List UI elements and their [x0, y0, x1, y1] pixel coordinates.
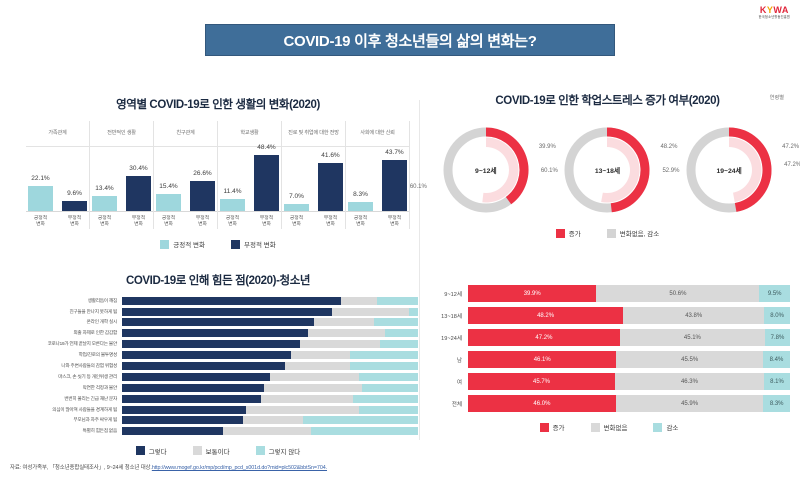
- hbar-track: [122, 362, 418, 370]
- hbar-segment: [362, 384, 418, 392]
- stacked-segment: 46.0%: [468, 395, 616, 412]
- hbar-row-label: 코로나19가 언제 끝날지 모른다는 불안: [18, 341, 122, 347]
- column-bar-label: 긍정적변화: [98, 216, 111, 228]
- legend-swatch: [653, 423, 662, 432]
- legend-label: 보통이다: [206, 446, 230, 456]
- donut-label-left: 60.1%: [410, 184, 427, 190]
- column-bar-wrapper: 26.6%부정적변화: [190, 147, 215, 212]
- hbar-track: [122, 406, 418, 414]
- hbar-segment: [223, 427, 312, 435]
- column-bar: 9.6%부정적변화: [62, 201, 87, 212]
- hbar-segment: [377, 297, 418, 305]
- column-bar-value: 9.6%: [67, 190, 82, 197]
- hbar-segment: [314, 318, 373, 326]
- donut-label-increase: 48.2%: [660, 144, 677, 150]
- legend-swatch: [556, 229, 565, 238]
- legend-item: 감소: [653, 422, 678, 432]
- hbar-row: 특별히 힘든점 없음: [18, 427, 418, 436]
- legend-swatch: [540, 423, 549, 432]
- donut-chart-panel: COVID-19로 인한 학업스트레스 증가 여부(2020) 연령별 9~12…: [425, 92, 790, 257]
- column-bar-wrapper: 41.6%부정적변화: [318, 147, 343, 212]
- donut-center-label: 9~12세: [475, 165, 497, 175]
- legend-item: 증가: [556, 228, 581, 238]
- hbar-row-label: 나와 주변사람들의 감염 위험성: [18, 363, 122, 369]
- stacked-row: 전체46.0%45.9%8.3%: [428, 395, 790, 412]
- stacked-segment: 46.3%: [615, 373, 764, 390]
- hbar-segment: [122, 373, 270, 381]
- hbar-segment: [359, 373, 418, 381]
- hbar-segment: [122, 340, 300, 348]
- column-bar-label: 긍정적변화: [354, 216, 367, 228]
- hbar-segment: [122, 427, 223, 435]
- hbar-segment: [122, 318, 314, 326]
- legend-item: 변화없음: [591, 422, 628, 432]
- column-chart-title: 영역별 COVID-19로 인한 생활의 변화(2020): [18, 96, 418, 112]
- column-bar: 7.0%긍정적변화: [284, 204, 309, 212]
- footnote-link[interactable]: http://www.mogef.go.kr/mp/pcd/mp_pcd_s00…: [152, 465, 327, 471]
- column-bar-value: 22.1%: [31, 175, 49, 182]
- column-bar: 11.4%긍정적변화: [220, 199, 245, 212]
- legend-item: 그렇지 않다: [256, 446, 301, 456]
- column-bar-value: 13.4%: [95, 185, 113, 192]
- legend-item: 변화없음, 감소: [607, 228, 660, 238]
- column-bar: 22.1%긍정적변화: [28, 186, 53, 212]
- hbar-track: [122, 308, 418, 316]
- donut-chart: 9~12세39.9%60.1%60.1%: [438, 122, 534, 218]
- donut-chart-subtitle: 연령별: [770, 94, 784, 101]
- stacked-track: 47.2%45.1%7.8%: [468, 329, 790, 346]
- hbar-segment: [122, 384, 264, 392]
- legend-label: 그렇다: [149, 446, 167, 456]
- column-bar-wrapper: 9.6%부정적변화: [62, 147, 87, 212]
- column-bar-value: 7.0%: [289, 193, 304, 200]
- column-chart: 가족관계22.1%긍정적변화9.6%부정적변화전반적인 생활13.4%긍정적변화…: [26, 121, 410, 229]
- logo-wordmark: KYWA: [759, 6, 790, 15]
- hbar-segment: [300, 340, 380, 348]
- hbar-segment: [350, 351, 418, 359]
- hbar-segment: [291, 351, 350, 359]
- hbar-row-label: 마스크, 손 씻기 등 개인위생 관리: [18, 374, 122, 380]
- hbar-chart-panel: COVID-19로 인해 힘든 점(2020)-청소년 생활리듬이 깨짐친구들을…: [18, 272, 418, 442]
- stacked-segment: 39.9%: [468, 285, 596, 302]
- hbar-row: 막연한 걱정과 불안: [18, 383, 418, 392]
- legend-swatch: [607, 229, 616, 238]
- legend-item: 부정적 변화: [231, 239, 276, 249]
- column-bar: 43.7%부정적변화: [382, 160, 407, 212]
- hbar-row: 친구들을 만나지 못하게 됨: [18, 307, 418, 316]
- legend-label: 그렇지 않다: [269, 446, 301, 456]
- hbar-row-label: 의심이 많아져 사람들을 경계하게 됨: [18, 407, 122, 413]
- footnote: 자료: 여성가족부, 「청소년종합실태조사」, 9~24세 청소년 대상.htt…: [10, 463, 327, 471]
- stacked-track: 48.2%43.8%8.0%: [468, 307, 790, 324]
- stacked-row-label: 전체: [428, 400, 468, 408]
- stacked-segment: 45.5%: [616, 351, 763, 368]
- donut-label-increase: 47.2%: [782, 144, 799, 150]
- stacked-row-label: 9~12세: [428, 290, 468, 298]
- donut-center-label: 13~18세: [595, 165, 620, 175]
- stacked-row: 19~24세47.2%45.1%7.8%: [428, 329, 790, 346]
- hbar-track: [122, 373, 418, 381]
- legend-item: 보통이다: [193, 446, 230, 456]
- column-bar-wrapper: 13.4%긍정적변화: [92, 147, 117, 212]
- legend-swatch: [193, 446, 202, 455]
- donut-label-other: 60.1%: [541, 168, 558, 174]
- column-group-label: 전반적인 생활: [90, 121, 153, 147]
- legend-swatch: [256, 446, 265, 455]
- hbar-track: [122, 427, 418, 435]
- hbar-track: [122, 384, 418, 392]
- column-group-label: 진로 및 취업에 대한 전망: [282, 121, 345, 147]
- donut-chart: 19~24세47.2%47.2%: [681, 122, 777, 218]
- column-bar-label: 부정적변화: [388, 216, 401, 228]
- stacked-segment: 8.3%: [763, 395, 790, 412]
- legend-swatch: [160, 240, 169, 249]
- hbar-segment: [341, 297, 377, 305]
- stacked-segment: 43.8%: [623, 307, 764, 324]
- hbar-segment: [285, 362, 350, 370]
- column-bar-wrapper: 30.4%부정적변화: [126, 147, 151, 212]
- hbar-chart: 생활리듬이 깨짐친구들을 만나지 못하게 됨온라인 개학 실시외출 자제로 인한…: [18, 296, 418, 436]
- hbar-track: [122, 297, 418, 305]
- stacked-track: 46.0%45.9%8.3%: [468, 395, 790, 412]
- column-bar-label: 긍정적변화: [290, 216, 303, 228]
- column-group-label: 사회에 대한 신뢰: [346, 121, 409, 147]
- column-bar: 48.4%부정적변화: [254, 155, 279, 212]
- hbar-segment: [122, 297, 341, 305]
- hbar-row-label: 외출 자제로 인한 갑갑함: [18, 330, 122, 336]
- column-group-body: 15.4%긍정적변화26.6%부정적변화: [154, 147, 217, 229]
- stacked-chart-panel: 9~12세39.9%50.6%9.5%13~18세48.2%43.8%8.0%1…: [428, 285, 790, 445]
- hbar-segment: [122, 416, 243, 424]
- column-group: 친구관계15.4%긍정적변화26.6%부정적변화: [154, 121, 218, 229]
- column-group: 가족관계22.1%긍정적변화9.6%부정적변화: [26, 121, 90, 229]
- stacked-segment: 45.9%: [616, 395, 764, 412]
- column-group: 사회에 대한 신뢰8.3%긍정적변화43.7%부정적변화: [346, 121, 410, 229]
- hbar-segment: [122, 395, 261, 403]
- donut-chart-title: COVID-19로 인한 학업스트레스 증가 여부(2020): [425, 92, 790, 108]
- hbar-row: 외출 자제로 인한 갑갑함: [18, 329, 418, 338]
- legend-label: 긍정적 변화: [173, 239, 205, 249]
- donut-label-other: 52.9%: [662, 168, 679, 174]
- column-bar-label: 부정적변화: [196, 216, 209, 228]
- hbar-track: [122, 395, 418, 403]
- hbar-row: 나와 주변사람들의 감염 위험성: [18, 361, 418, 370]
- column-bar-label: 긍정적변화: [162, 216, 175, 228]
- column-bar-label: 부정적변화: [68, 216, 81, 228]
- vertical-divider: [419, 100, 420, 440]
- stacked-chart: 9~12세39.9%50.6%9.5%13~18세48.2%43.8%8.0%1…: [428, 285, 790, 412]
- stacked-row: 여45.7%46.3%8.1%: [428, 373, 790, 390]
- stacked-segment: 45.1%: [620, 329, 765, 346]
- legend-label: 감소: [666, 422, 678, 432]
- column-bar-wrapper: 15.4%긍정적변화: [156, 147, 181, 212]
- column-bar-label: 부정적변화: [324, 216, 337, 228]
- stacked-segment: 50.6%: [596, 285, 759, 302]
- hbar-track: [122, 340, 418, 348]
- donut-center-label: 19~24세: [716, 165, 741, 175]
- column-group-body: 13.4%긍정적변화30.4%부정적변화: [90, 147, 153, 229]
- stacked-track: 39.9%50.6%9.5%: [468, 285, 790, 302]
- column-group-body: 22.1%긍정적변화9.6%부정적변화: [26, 147, 89, 229]
- column-bar: 26.6%부정적변화: [190, 181, 215, 212]
- stacked-track: 46.1%45.5%8.4%: [468, 351, 790, 368]
- hbar-row-label: 막연한 걱정과 불안: [18, 385, 122, 391]
- column-bar-value: 30.4%: [129, 165, 147, 172]
- column-group-label: 가족관계: [26, 121, 89, 147]
- hbar-row: 마스크, 손 씻기 등 개인위생 관리: [18, 372, 418, 381]
- column-bar-label: 부정적변화: [132, 216, 145, 228]
- legend-swatch: [136, 446, 145, 455]
- column-chart-legend: 긍정적 변화부정적 변화: [18, 239, 418, 249]
- column-group-body: 11.4%긍정적변화48.4%부정적변화: [218, 147, 281, 229]
- hbar-segment: [270, 373, 359, 381]
- stacked-segment: 48.2%: [468, 307, 623, 324]
- column-bar-value: 26.6%: [193, 170, 211, 177]
- stacked-segment: 7.8%: [765, 329, 790, 346]
- legend-label: 변화없음, 감소: [620, 228, 660, 238]
- hbar-segment: [246, 406, 358, 414]
- stacked-row-label: 여: [428, 378, 468, 386]
- hbar-segment: [122, 351, 291, 359]
- hbar-row: 온라인 개학 실시: [18, 318, 418, 327]
- column-bar: 13.4%긍정적변화: [92, 196, 117, 212]
- hbar-track: [122, 318, 418, 326]
- column-bar: 15.4%긍정적변화: [156, 194, 181, 212]
- legend-swatch: [231, 240, 240, 249]
- legend-label: 증가: [553, 422, 565, 432]
- hbar-row: 의심이 많아져 사람들을 경계하게 됨: [18, 405, 418, 414]
- footnote-text: 자료: 여성가족부, 「청소년종합실태조사」, 9~24세 청소년 대상.: [10, 465, 152, 471]
- column-group: 전반적인 생활13.4%긍정적변화30.4%부정적변화: [90, 121, 154, 229]
- column-bar-label: 긍정적변화: [226, 216, 239, 228]
- column-group: 진로 및 취업에 대한 전망7.0%긍정적변화41.6%부정적변화: [282, 121, 346, 229]
- stacked-segment: 45.7%: [468, 373, 615, 390]
- donut-label-other: 47.2%: [784, 162, 800, 168]
- stacked-row-label: 남: [428, 356, 468, 364]
- hbar-segment: [374, 318, 418, 326]
- hbar-segment: [303, 416, 418, 424]
- hbar-segment: [332, 308, 409, 316]
- column-bar-wrapper: 8.3%긍정적변화: [348, 147, 373, 212]
- stacked-segment: 9.5%: [759, 285, 790, 302]
- column-bar: 41.6%부정적변화: [318, 163, 343, 212]
- hbar-segment: [385, 329, 418, 337]
- column-bar: 8.3%긍정적변화: [348, 202, 373, 212]
- hbar-segment: [353, 395, 418, 403]
- column-bar: 30.4%부정적변화: [126, 176, 151, 212]
- stacked-track: 45.7%46.3%8.1%: [468, 373, 790, 390]
- hbar-segment: [311, 427, 418, 435]
- column-bar-value: 41.6%: [321, 152, 339, 159]
- column-bar-value: 48.4%: [257, 144, 275, 151]
- hbar-segment: [409, 308, 418, 316]
- stacked-segment: 47.2%: [468, 329, 620, 346]
- hbar-segment: [122, 308, 332, 316]
- hbar-chart-legend: 그렇다보통이다그렇지 않다: [18, 446, 418, 456]
- stacked-row-label: 19~24세: [428, 334, 468, 342]
- stacked-segment: 8.1%: [764, 373, 790, 390]
- hbar-row-label: 특별히 힘든점 없음: [18, 428, 122, 434]
- hbar-row-label: 친구들을 만나지 못하게 됨: [18, 309, 122, 315]
- column-chart-panel: 영역별 COVID-19로 인한 생활의 변화(2020) 가족관계22.1%긍…: [18, 96, 418, 254]
- stacked-chart-legend: 증가변화없음감소: [428, 422, 790, 432]
- legend-swatch: [591, 423, 600, 432]
- column-group-body: 8.3%긍정적변화43.7%부정적변화: [346, 147, 409, 229]
- column-bar-wrapper: 11.4%긍정적변화: [220, 147, 245, 212]
- column-bar-wrapper: 48.4%부정적변화: [254, 147, 279, 212]
- hbar-chart-title: COVID-19로 인해 힘든 점(2020)-청소년: [18, 272, 418, 288]
- legend-item: 긍정적 변화: [160, 239, 205, 249]
- stacked-row: 13~18세48.2%43.8%8.0%: [428, 307, 790, 324]
- column-bar-value: 43.7%: [385, 149, 403, 156]
- hbar-row: 번번히 울리는 긴급 재난 문자: [18, 394, 418, 403]
- donut-row: 9~12세39.9%60.1%60.1%13~18세48.2%52.9%19~2…: [425, 122, 790, 218]
- column-bar-wrapper: 43.7%부정적변화: [382, 147, 407, 212]
- column-group-label: 친구관계: [154, 121, 217, 147]
- infographic-page: KYWA 한국청소년활동진흥원 COVID-19 이후 청소년들의 삶의 변화는…: [0, 0, 800, 479]
- hbar-segment: [122, 362, 285, 370]
- column-group-body: 7.0%긍정적변화41.6%부정적변화: [282, 147, 345, 229]
- column-bar-label: 긍정적변화: [34, 216, 47, 228]
- hbar-row-label: 부모님과 자주 싸우게 됨: [18, 417, 122, 423]
- donut-label-increase: 39.9%: [539, 144, 556, 150]
- column-bar-wrapper: 22.1%긍정적변화: [28, 147, 53, 212]
- hbar-track: [122, 416, 418, 424]
- legend-label: 증가: [569, 228, 581, 238]
- stacked-row: 9~12세39.9%50.6%9.5%: [428, 285, 790, 302]
- hbar-segment: [243, 416, 302, 424]
- hbar-segment: [122, 406, 246, 414]
- page-title-text: COVID-19 이후 청소년들의 삶의 변화는?: [283, 30, 536, 51]
- logo-subtitle: 한국청소년활동진흥원: [759, 16, 790, 19]
- hbar-row: 부모님과 자주 싸우게 됨: [18, 416, 418, 425]
- column-bar-value: 11.4%: [224, 188, 242, 195]
- hbar-segment: [308, 329, 385, 337]
- stacked-segment: 8.4%: [763, 351, 790, 368]
- hbar-row-label: 생활리듬이 깨짐: [18, 298, 122, 304]
- page-title: COVID-19 이후 청소년들의 삶의 변화는?: [205, 24, 615, 56]
- hbar-segment: [350, 362, 418, 370]
- hbar-segment: [122, 329, 308, 337]
- legend-item: 그렇다: [136, 446, 167, 456]
- hbar-row-label: 온라인 개학 실시: [18, 319, 122, 325]
- column-bar-label: 부정적변화: [260, 216, 273, 228]
- donut-chart-legend: 증가변화없음, 감소: [425, 228, 790, 238]
- stacked-segment: 46.1%: [468, 351, 616, 368]
- hbar-segment: [380, 340, 418, 348]
- column-bar-value: 8.3%: [353, 191, 368, 198]
- kywa-logo: KYWA 한국청소년활동진흥원: [759, 6, 790, 19]
- hbar-segment: [359, 406, 418, 414]
- stacked-row: 남46.1%45.5%8.4%: [428, 351, 790, 368]
- legend-label: 변화없음: [604, 422, 628, 432]
- hbar-track: [122, 351, 418, 359]
- donut-chart: 13~18세48.2%52.9%: [559, 122, 655, 218]
- stacked-segment: 8.0%: [764, 307, 790, 324]
- hbar-row-label: 학업/진로의 불투명성: [18, 352, 122, 358]
- column-bar-wrapper: 7.0%긍정적변화: [284, 147, 309, 212]
- hbar-track: [122, 329, 418, 337]
- hbar-row: 학업/진로의 불투명성: [18, 350, 418, 359]
- hbar-row: 생활리듬이 깨짐: [18, 296, 418, 305]
- legend-label: 부정적 변화: [244, 239, 276, 249]
- hbar-segment: [261, 395, 353, 403]
- hbar-segment: [264, 384, 362, 392]
- column-group: 학교생활11.4%긍정적변화48.4%부정적변화: [218, 121, 282, 229]
- hbar-row: 코로나19가 언제 끝날지 모른다는 불안: [18, 340, 418, 349]
- hbar-row-label: 번번히 울리는 긴급 재난 문자: [18, 396, 122, 402]
- legend-item: 증가: [540, 422, 565, 432]
- stacked-row-label: 13~18세: [428, 312, 468, 320]
- column-bar-value: 15.4%: [159, 183, 177, 190]
